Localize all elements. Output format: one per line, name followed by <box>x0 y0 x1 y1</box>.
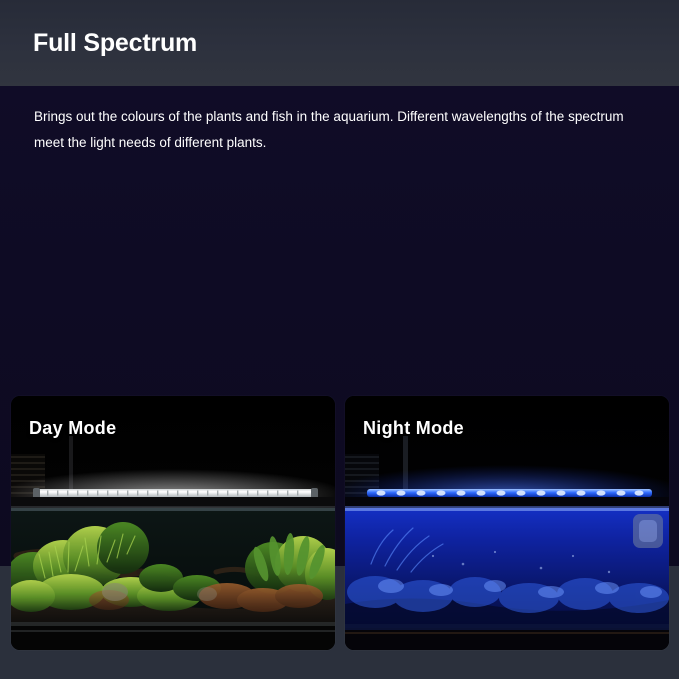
night-mode-label: Night Mode <box>363 418 464 439</box>
page-title: Full Spectrum <box>33 29 197 58</box>
chart-blue-spectrum <box>352 182 679 372</box>
intro-paragraph: Brings out the colours of the plants and… <box>34 104 634 156</box>
spectrum-charts-row <box>0 182 679 372</box>
header-band: Full Spectrum <box>0 0 679 86</box>
card-night-mode: Night Mode <box>345 396 669 650</box>
card-day-mode: Day Mode <box>11 396 335 650</box>
mode-photo-cards: Day Mode <box>0 396 679 652</box>
full-spectrum-plot <box>14 182 344 372</box>
chart-full-spectrum <box>14 182 344 372</box>
blue-spectrum-plot <box>352 182 679 372</box>
day-mode-label: Day Mode <box>29 418 116 439</box>
full-spectrum-page: Full Spectrum Brings out the colours of … <box>0 0 679 679</box>
